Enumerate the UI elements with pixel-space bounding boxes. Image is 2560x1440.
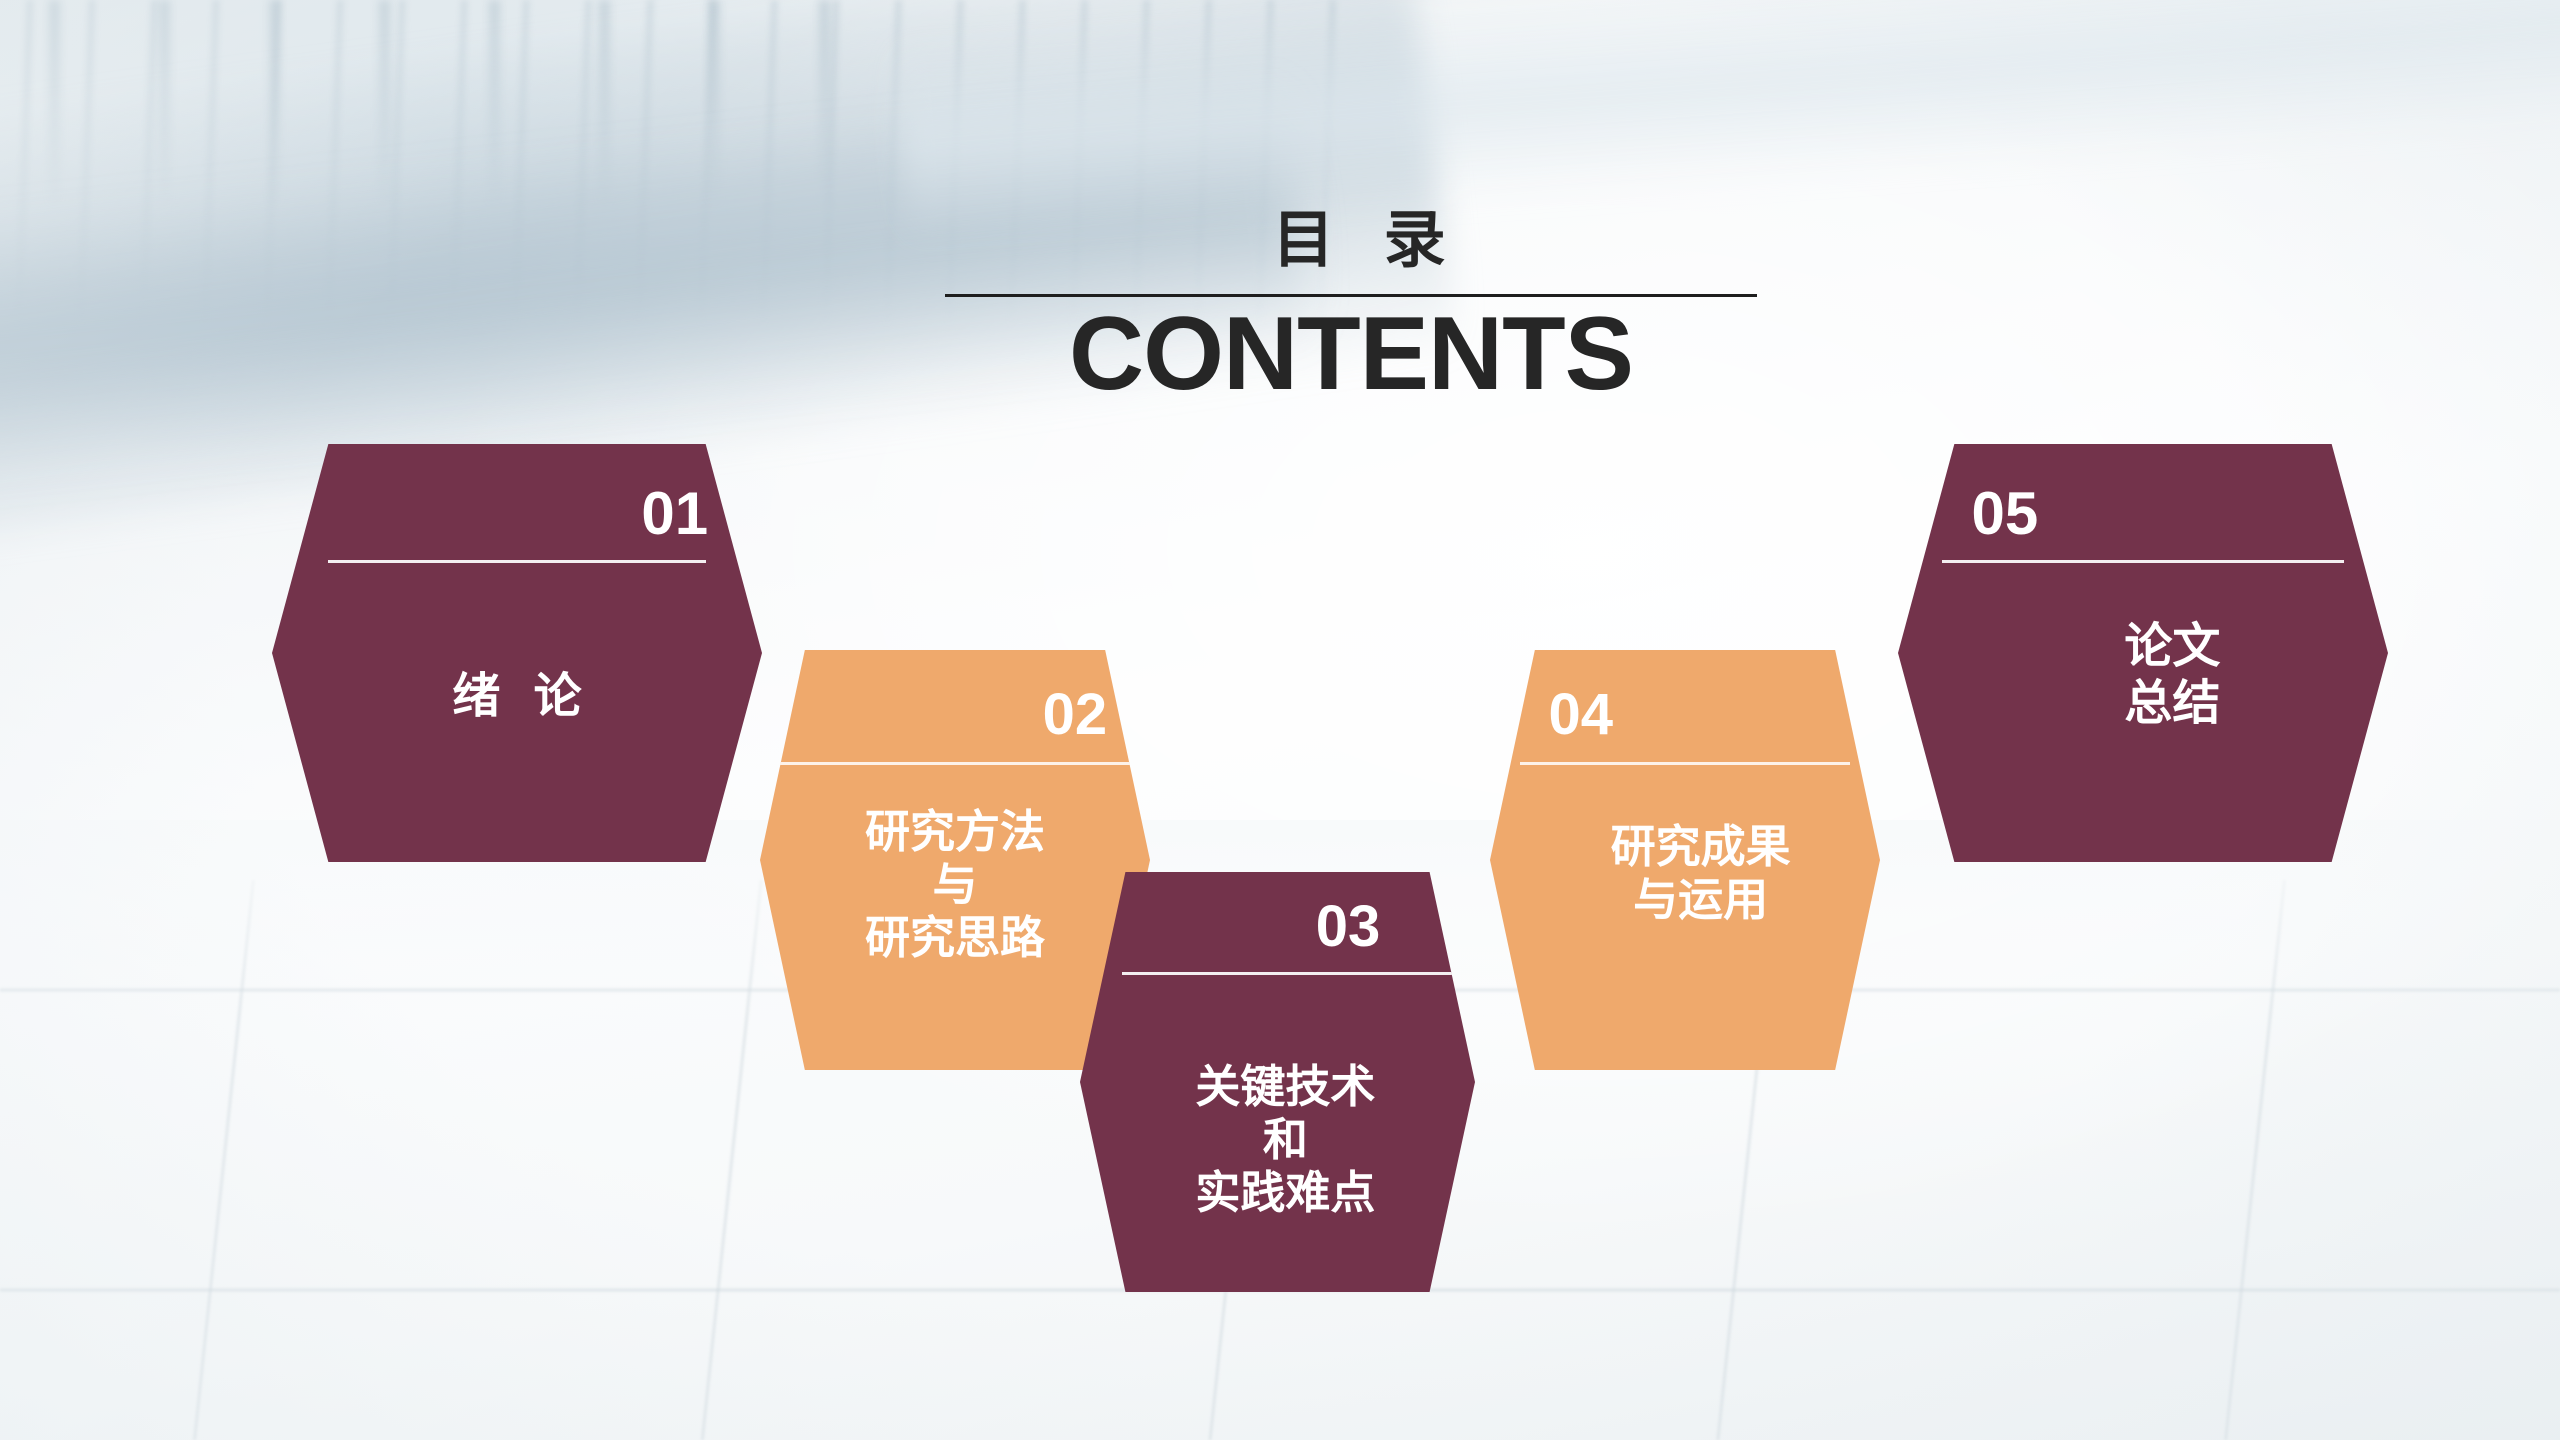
- presentation-slide: 目 录 CONTENTS 01 绪 论 02 研究方法 与 研究思路 03 关键…: [0, 0, 2560, 1440]
- agenda-label-05: 论文 总结: [1967, 619, 2379, 732]
- agenda-divider-04: [1520, 762, 1850, 765]
- agenda-hexagon-04[interactable]: 04 研究成果 与运用: [1490, 650, 1880, 1070]
- agenda-number-04: 04: [1549, 686, 1838, 744]
- agenda-number-03: 03: [1151, 898, 1380, 956]
- agenda-number-02: 02: [803, 686, 1107, 744]
- agenda-label-02: 研究方法 与 研究思路: [783, 805, 1126, 964]
- agenda-number-01: 01: [326, 484, 708, 544]
- agenda-label-03: 关键技术 和 实践难点: [1112, 1060, 1460, 1219]
- title-english: CONTENTS: [945, 299, 1757, 409]
- title-chinese: 目 录: [961, 210, 1757, 272]
- agenda-divider-03: [1122, 972, 1469, 975]
- agenda-hexagon-03[interactable]: 03 关键技术 和 实践难点: [1080, 872, 1475, 1292]
- agenda-divider-02: [762, 762, 1148, 765]
- agenda-label-01: 绪 论: [301, 669, 732, 726]
- agenda-hexagon-01[interactable]: 01 绪 论: [272, 444, 762, 862]
- agenda-label-04: 研究成果 与运用: [1529, 820, 1872, 926]
- agenda-number-05: 05: [1972, 484, 2335, 544]
- slide-title-block: 目 录 CONTENTS: [945, 210, 1757, 409]
- agenda-hexagon-05[interactable]: 05 论文 总结: [1898, 444, 2388, 862]
- agenda-divider-01: [328, 560, 706, 563]
- agenda-divider-05: [1942, 560, 2344, 563]
- agenda-hexagon-02[interactable]: 02 研究方法 与 研究思路: [760, 650, 1150, 1070]
